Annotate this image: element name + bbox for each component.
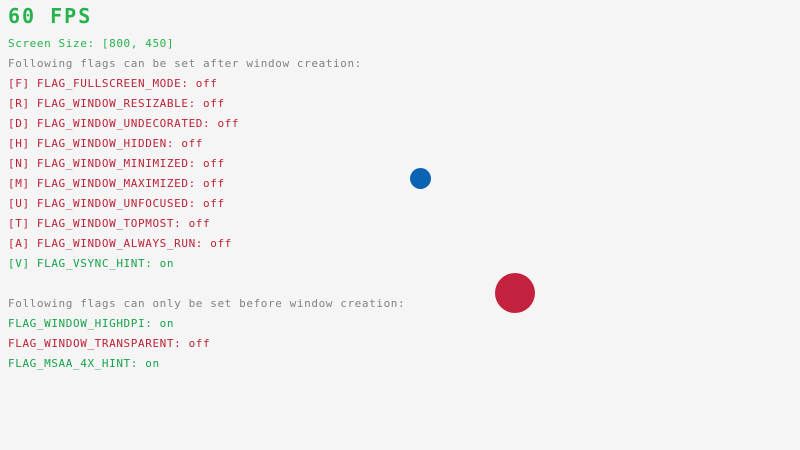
- screen-size-label: Screen Size: [800, 450]: [8, 38, 174, 49]
- flag-row-window-maximized[interactable]: [M] FLAG_WINDOW_MAXIMIZED: off: [8, 178, 225, 189]
- fps-counter: 60 FPS: [8, 6, 92, 26]
- flag-row-vsync-hint[interactable]: [V] FLAG_VSYNC_HINT: on: [8, 258, 174, 269]
- blue-ball-shape: [410, 168, 431, 189]
- section-header-before-creation: Following flags can only be set before w…: [8, 298, 405, 309]
- flag-row-window-highdpi: FLAG_WINDOW_HIGHDPI: on: [8, 318, 174, 329]
- flag-row-window-transparent: FLAG_WINDOW_TRANSPARENT: off: [8, 338, 210, 349]
- flag-row-window-always-run[interactable]: [A] FLAG_WINDOW_ALWAYS_RUN: off: [8, 238, 232, 249]
- flag-row-msaa-4x-hint: FLAG_MSAA_4X_HINT: on: [8, 358, 160, 369]
- flag-row-fullscreen-mode[interactable]: [F] FLAG_FULLSCREEN_MODE: off: [8, 78, 217, 89]
- flag-row-window-unfocused[interactable]: [U] FLAG_WINDOW_UNFOCUSED: off: [8, 198, 225, 209]
- flag-row-window-minimized[interactable]: [N] FLAG_WINDOW_MINIMIZED: off: [8, 158, 225, 169]
- flag-row-window-hidden[interactable]: [H] FLAG_WINDOW_HIDDEN: off: [8, 138, 203, 149]
- flag-row-window-resizable[interactable]: [R] FLAG_WINDOW_RESIZABLE: off: [8, 98, 225, 109]
- flag-row-window-undecorated[interactable]: [D] FLAG_WINDOW_UNDECORATED: off: [8, 118, 239, 129]
- section-header-after-creation: Following flags can be set after window …: [8, 58, 362, 69]
- flag-row-window-topmost[interactable]: [T] FLAG_WINDOW_TOPMOST: off: [8, 218, 210, 229]
- raylib-window-canvas: 60 FPS Screen Size: [800, 450] Following…: [0, 0, 800, 450]
- red-ball-shape: [495, 273, 535, 313]
